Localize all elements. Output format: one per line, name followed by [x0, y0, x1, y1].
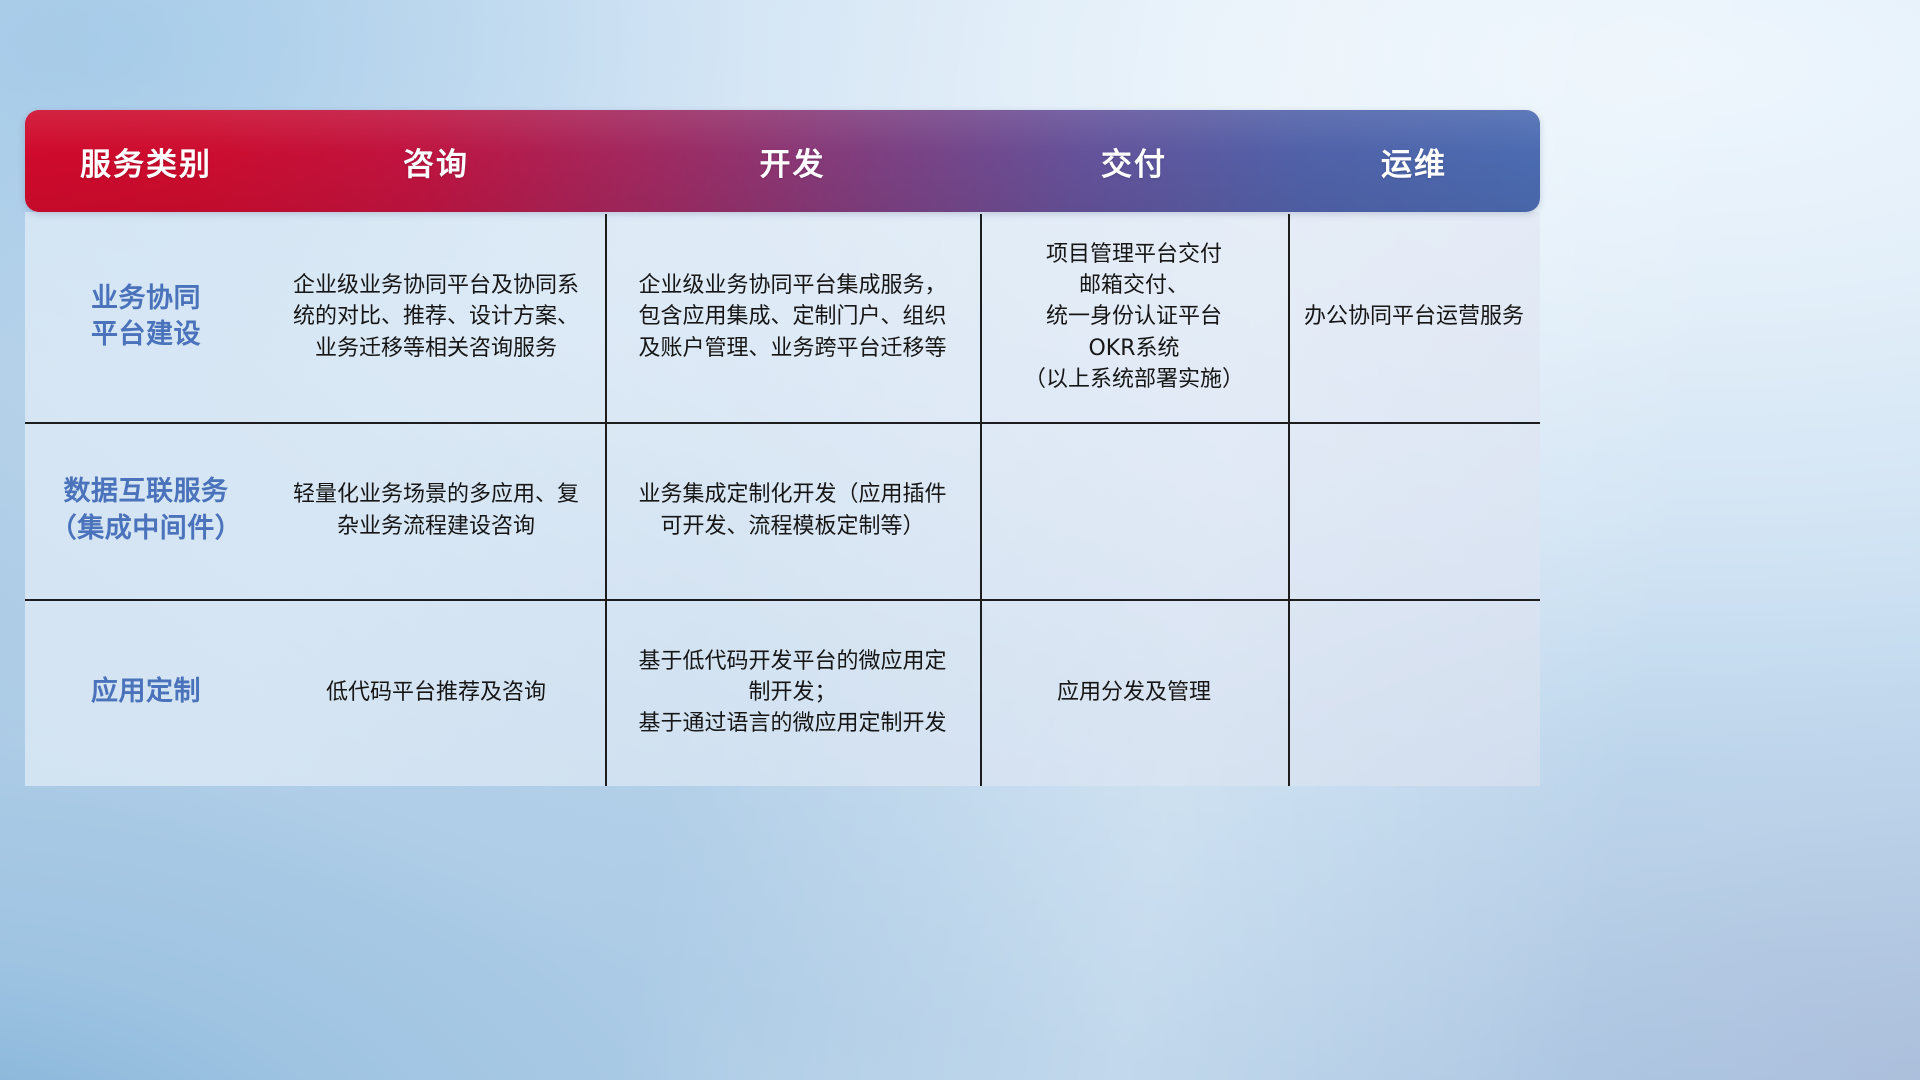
- cell-operations-row1: 办公协同平台运营服务: [1288, 212, 1540, 422]
- row-label-app-customization: 应用定制: [25, 599, 267, 786]
- header-cell-operations: 运维: [1288, 139, 1540, 184]
- column-divider: [1288, 214, 1290, 786]
- service-matrix-table: 服务类别 咨询 开发 交付 运维 业务协同 平台建设 企业级业务协同平台及协同系…: [25, 110, 1540, 786]
- cell-delivery-row3: 应用分发及管理: [980, 599, 1288, 786]
- cell-development-row1: 企业级业务协同平台集成服务， 包含应用集成、定制门户、组织 及账户管理、业务跨平…: [605, 212, 980, 422]
- header-cell-development: 开发: [605, 139, 980, 184]
- cell-development-row3: 基于低代码开发平台的微应用定 制开发； 基于通过语言的微应用定制开发: [605, 599, 980, 786]
- cell-consulting-row2: 轻量化业务场景的多应用、复 杂业务流程建设咨询: [267, 422, 605, 599]
- header-cell-consulting: 咨询: [267, 139, 605, 184]
- header-cell-delivery: 交付: [980, 139, 1288, 184]
- row-label-data-interconnect: 数据互联服务 （集成中间件）: [25, 422, 267, 599]
- cell-operations-row2: [1288, 422, 1540, 599]
- column-divider: [605, 214, 607, 786]
- row-label-business-collaboration: 业务协同 平台建设: [25, 212, 267, 422]
- row-divider: [25, 599, 1540, 601]
- table-row: 数据互联服务 （集成中间件） 轻量化业务场景的多应用、复 杂业务流程建设咨询 业…: [25, 422, 1540, 599]
- table-header-row: 服务类别 咨询 开发 交付 运维: [25, 110, 1540, 212]
- table-row: 应用定制 低代码平台推荐及咨询 基于低代码开发平台的微应用定 制开发； 基于通过…: [25, 599, 1540, 786]
- column-divider: [980, 214, 982, 786]
- cell-delivery-row1: 项目管理平台交付 邮箱交付、 统一身份认证平台 OKR系统 （以上系统部署实施）: [980, 212, 1288, 422]
- cell-development-row2: 业务集成定制化开发（应用插件 可开发、流程模板定制等）: [605, 422, 980, 599]
- cell-operations-row3: [1288, 599, 1540, 786]
- cell-consulting-row1: 企业级业务协同平台及协同系 统的对比、推荐、设计方案、 业务迁移等相关咨询服务: [267, 212, 605, 422]
- header-cell-service-category: 服务类别: [25, 139, 267, 184]
- row-divider: [25, 422, 1540, 424]
- cell-consulting-row3: 低代码平台推荐及咨询: [267, 599, 605, 786]
- cell-delivery-row2: [980, 422, 1288, 599]
- table-row: 业务协同 平台建设 企业级业务协同平台及协同系 统的对比、推荐、设计方案、 业务…: [25, 212, 1540, 422]
